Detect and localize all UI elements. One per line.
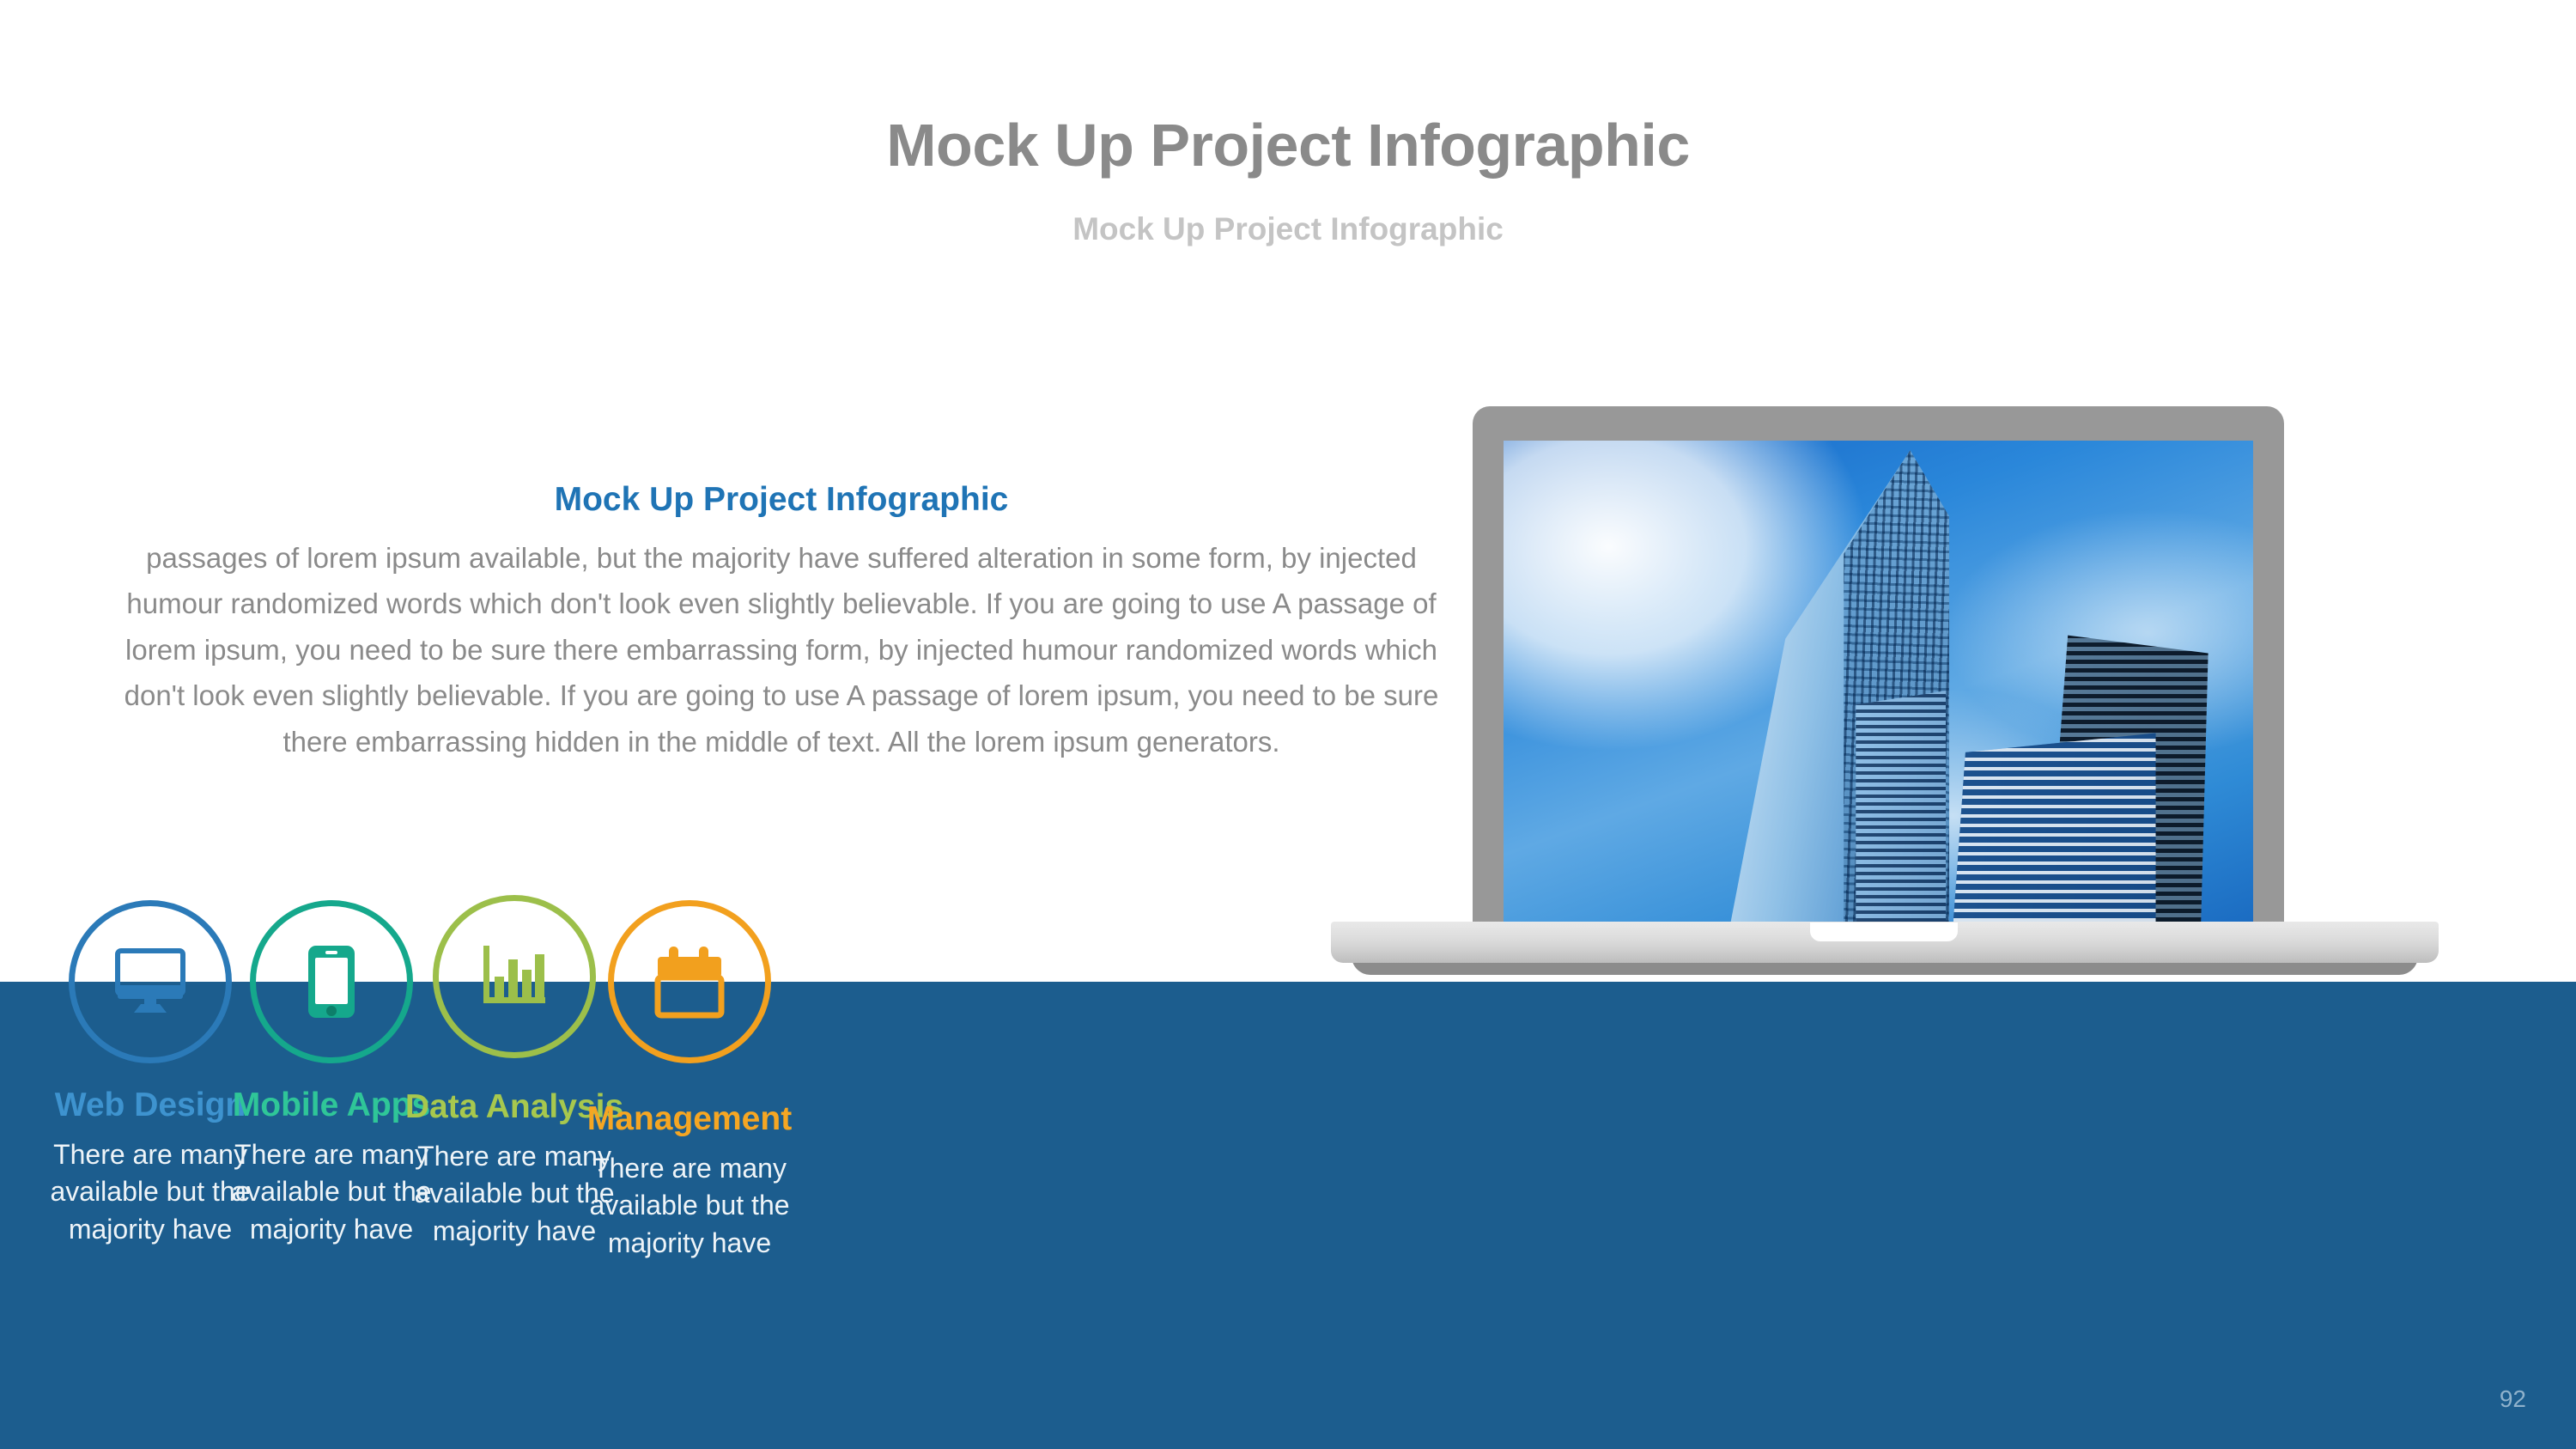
feature-item-management[interactable]: Management There are many available but … — [515, 900, 864, 1262]
page-number: 92 — [2500, 1385, 2526, 1413]
feature-row: Web Design There are many available but … — [0, 900, 1460, 1381]
feature-description: There are many available but the majorit… — [515, 1150, 864, 1263]
body-paragraph: passages of lorem ipsum available, but t… — [103, 535, 1460, 764]
skyscraper-blue — [1953, 729, 2156, 922]
laptop-notch — [1810, 922, 1958, 941]
calendar-icon — [654, 945, 725, 1019]
body-heading: Mock Up Project Infographic — [103, 481, 1460, 520]
page-subtitle: Mock Up Project Infographic — [0, 213, 2576, 245]
skyscraper-side — [1856, 691, 1946, 922]
laptop-lid — [1473, 406, 2284, 939]
laptop-screen — [1504, 441, 2253, 922]
slide-canvas: Mock Up Project Infographic Mock Up Proj… — [0, 0, 2576, 1449]
page-title: Mock Up Project Infographic — [0, 115, 2576, 175]
laptop-mockup — [1331, 406, 2439, 982]
body-text-block: Mock Up Project Infographic passages of … — [103, 481, 1460, 764]
feature-title: Management — [515, 1101, 864, 1138]
feature-icon-circle[interactable] — [608, 900, 771, 1063]
